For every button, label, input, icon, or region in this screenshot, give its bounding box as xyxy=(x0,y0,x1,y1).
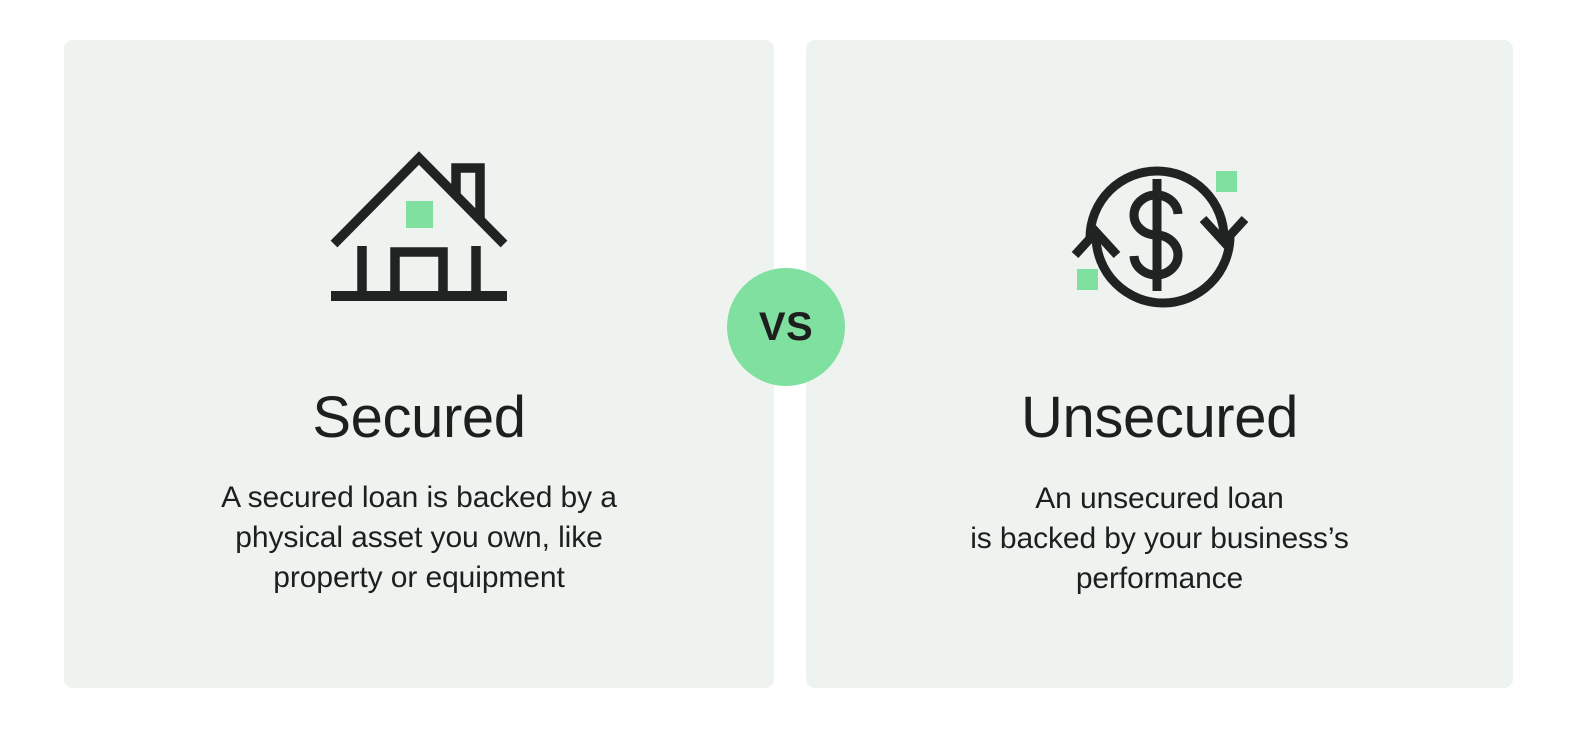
comparison-graphic: Secured A secured loan is backed by a ph… xyxy=(0,0,1576,734)
house-icon-container xyxy=(64,148,774,308)
card-unsecured: Unsecured An unsecured loan is backed by… xyxy=(806,40,1513,688)
card-heading-unsecured: Unsecured xyxy=(806,388,1513,449)
card-heading-secured: Secured xyxy=(64,388,774,449)
card-secured: Secured A secured loan is backed by a ph… xyxy=(64,40,774,688)
vs-badge: VS xyxy=(727,268,845,386)
green-accent-square-top xyxy=(1216,171,1237,192)
green-accent-square xyxy=(406,201,433,228)
vs-badge-label: VS xyxy=(759,307,813,347)
card-body-unsecured: An unsecured loan is backed by your busi… xyxy=(806,479,1513,599)
house-icon xyxy=(329,148,509,308)
dollar-refresh-icon xyxy=(1070,158,1250,313)
green-accent-square-bottom xyxy=(1077,269,1098,290)
card-body-secured: A secured loan is backed by a physical a… xyxy=(64,478,774,598)
dollar-refresh-icon-container xyxy=(806,158,1513,313)
